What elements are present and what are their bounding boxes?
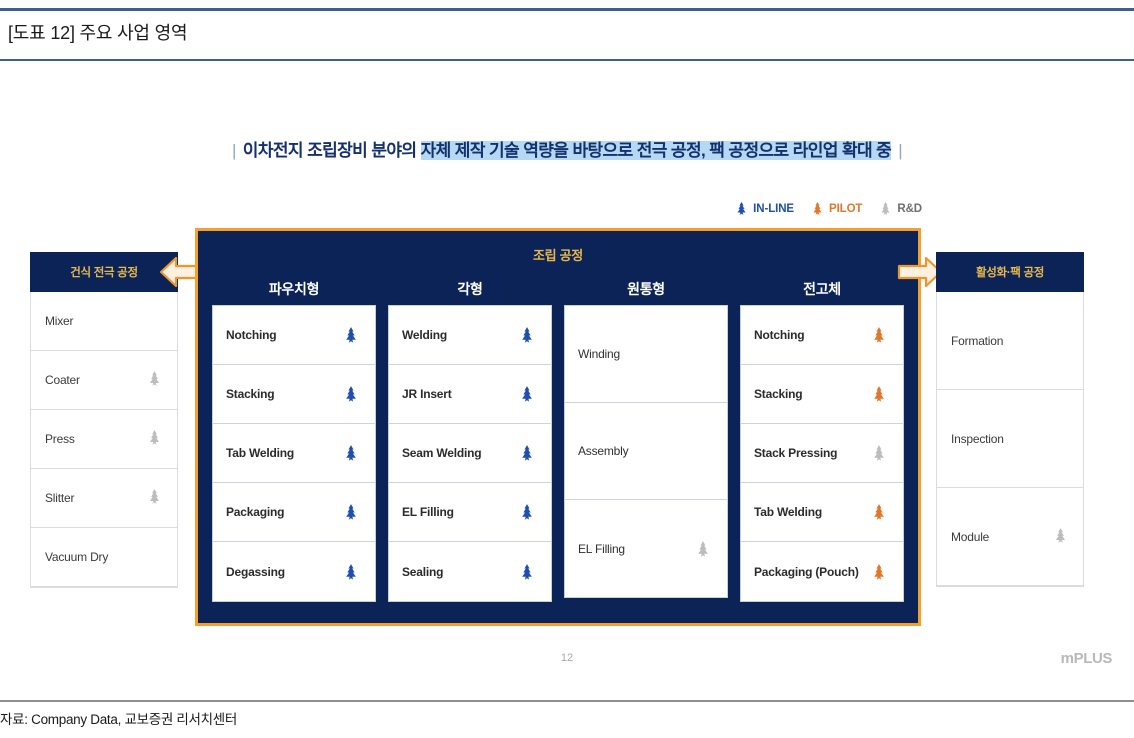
status-icon-slot — [868, 326, 890, 344]
process-label: Notching — [754, 328, 804, 342]
process-label: Tab Welding — [754, 505, 822, 519]
assembly-cell: Notching — [213, 306, 375, 365]
process-label: Winding — [578, 347, 620, 361]
status-icon-slot — [868, 444, 890, 462]
tree-icon-orange — [870, 385, 888, 403]
assembly-cell: Tab Welding — [213, 424, 375, 483]
company-logo: mPLUS — [1061, 650, 1112, 667]
assembly-column-3: 원통형WindingAssemblyEL Filling — [564, 273, 728, 611]
process-label: Slitter — [45, 491, 74, 505]
tree-icon-gray — [146, 429, 163, 446]
process-label: JR Insert — [402, 387, 452, 401]
status-icon-slot — [340, 503, 362, 521]
center-panel-title: 조립 공정 — [198, 245, 918, 264]
assembly-column-header: 파우치형 — [212, 273, 376, 305]
tree-icon-blue — [342, 444, 360, 462]
tree-icon-blue — [518, 444, 536, 462]
status-icon-slot — [868, 385, 890, 403]
left-panel-rows: MixerCoaterPressSlitterVacuum Dry — [31, 292, 177, 587]
process-label: Formation — [951, 334, 1003, 348]
right-panel-rows: FormationInspectionModule — [937, 292, 1083, 586]
process-label: Packaging (Pouch) — [754, 565, 859, 579]
assembly-cell: Winding — [565, 306, 727, 403]
process-label: Tab Welding — [226, 446, 294, 460]
assembly-cell: Stack Pressing — [741, 424, 903, 483]
status-icon-slot — [516, 503, 538, 521]
process-label: Mixer — [45, 314, 73, 328]
assembly-cell: EL Filling — [389, 483, 551, 542]
assembly-cell: Sealing — [389, 542, 551, 601]
center-columns: 파우치형NotchingStackingTab WeldingPackaging… — [212, 273, 904, 611]
assembly-column-header: 전고체 — [740, 273, 904, 305]
assembly-cell: JR Insert — [389, 365, 551, 424]
right-panel-header: 활성화·팩 공정 — [936, 252, 1084, 292]
left-process-row: Mixer — [31, 292, 177, 351]
tree-icon-gray — [694, 540, 712, 558]
assembly-cell: Stacking — [741, 365, 903, 424]
process-label: Stacking — [226, 387, 274, 401]
left-process-row: Press — [31, 410, 177, 469]
assembly-column-header: 각형 — [388, 273, 552, 305]
tree-icon-gray — [1052, 527, 1069, 544]
left-panel-header: 건식 전극 공정 — [30, 252, 178, 292]
tree-icon-orange — [870, 326, 888, 344]
left-process-panel: 건식 전극 공정 MixerCoaterPressSlitterVacuum D… — [30, 253, 178, 588]
left-process-row: Coater — [31, 351, 177, 410]
assembly-cell: Assembly — [565, 403, 727, 500]
tree-icon-blue — [518, 326, 536, 344]
right-process-row: Formation — [937, 292, 1083, 390]
process-label: Press — [45, 432, 75, 446]
process-label: Vacuum Dry — [45, 550, 108, 564]
status-icon-slot — [516, 444, 538, 462]
assembly-cell: Packaging (Pouch) — [741, 542, 903, 601]
tree-icon-orange — [870, 563, 888, 581]
process-label: Coater — [45, 373, 80, 387]
process-label: EL Filling — [578, 542, 625, 556]
assembly-cell: Seam Welding — [389, 424, 551, 483]
assembly-column-4: 전고체NotchingStackingStack PressingTab Wel… — [740, 273, 904, 611]
tree-icon-orange — [870, 503, 888, 521]
tree-icon-gray — [146, 370, 163, 387]
tree-icon-blue — [518, 563, 536, 581]
assembly-column-1: 파우치형NotchingStackingTab WeldingPackaging… — [212, 273, 376, 611]
process-label: Module — [951, 530, 989, 544]
assembly-column-2: 각형WeldingJR InsertSeam WeldingEL Filling… — [388, 273, 552, 611]
tree-icon-blue — [518, 385, 536, 403]
process-label: Seam Welding — [402, 446, 481, 460]
source-note: 자료: Company Data, 교보증권 리서치센터 — [0, 708, 237, 728]
process-label: Stacking — [754, 387, 802, 401]
status-icon-slot — [692, 540, 714, 558]
status-icon-slot — [516, 326, 538, 344]
assembly-cell: Packaging — [213, 483, 375, 542]
tree-icon-blue — [342, 326, 360, 344]
left-process-row: Vacuum Dry — [31, 528, 177, 587]
assembly-column-card: WindingAssemblyEL Filling — [564, 305, 728, 598]
process-label: EL Filling — [402, 505, 454, 519]
status-icon-slot — [340, 444, 362, 462]
status-icon-slot — [340, 326, 362, 344]
status-icon-slot — [146, 429, 163, 449]
tree-icon-gray — [146, 488, 163, 505]
slide-page: [도표 12] 주요 사업 영역 |이차전지 조립장비 분야의 자체 제작 기술… — [0, 0, 1134, 738]
process-label: Assembly — [578, 444, 628, 458]
right-process-row: Module — [937, 488, 1083, 586]
page-number: 12 — [0, 652, 1134, 664]
tree-icon-blue — [342, 503, 360, 521]
status-icon-slot — [340, 385, 362, 403]
process-label: Inspection — [951, 432, 1004, 446]
center-assembly-panel: 조립 공정 파우치형NotchingStackingTab WeldingPac… — [195, 228, 921, 626]
status-icon-slot — [340, 563, 362, 581]
status-icon-slot — [868, 563, 890, 581]
status-icon-slot — [516, 385, 538, 403]
status-icon-slot — [516, 563, 538, 581]
left-process-row: Slitter — [31, 469, 177, 528]
assembly-column-card: WeldingJR InsertSeam WeldingEL FillingSe… — [388, 305, 552, 602]
tree-icon-blue — [342, 563, 360, 581]
assembly-cell: Degassing — [213, 542, 375, 601]
tree-icon-blue — [342, 385, 360, 403]
process-label: Stack Pressing — [754, 446, 837, 460]
assembly-cell: EL Filling — [565, 500, 727, 597]
footer-rule — [0, 700, 1134, 702]
process-label: Notching — [226, 328, 276, 342]
right-process-row: Inspection — [937, 390, 1083, 488]
tree-icon-blue — [518, 503, 536, 521]
assembly-cell: Notching — [741, 306, 903, 365]
status-icon-slot — [146, 370, 163, 390]
process-diagram: 건식 전극 공정 MixerCoaterPressSlitterVacuum D… — [0, 0, 1134, 738]
right-process-panel: 활성화·팩 공정 FormationInspectionModule — [936, 253, 1084, 587]
tree-icon-gray — [870, 444, 888, 462]
assembly-cell: Tab Welding — [741, 483, 903, 542]
process-label: Sealing — [402, 565, 443, 579]
process-label: Welding — [402, 328, 447, 342]
status-icon-slot — [868, 503, 890, 521]
status-icon-slot — [1052, 527, 1069, 547]
assembly-column-header: 원통형 — [564, 273, 728, 305]
assembly-column-card: NotchingStackingTab WeldingPackagingDega… — [212, 305, 376, 602]
process-label: Packaging — [226, 505, 284, 519]
process-label: Degassing — [226, 565, 285, 579]
assembly-cell: Stacking — [213, 365, 375, 424]
status-icon-slot — [146, 488, 163, 508]
assembly-cell: Welding — [389, 306, 551, 365]
assembly-column-card: NotchingStackingStack PressingTab Weldin… — [740, 305, 904, 602]
